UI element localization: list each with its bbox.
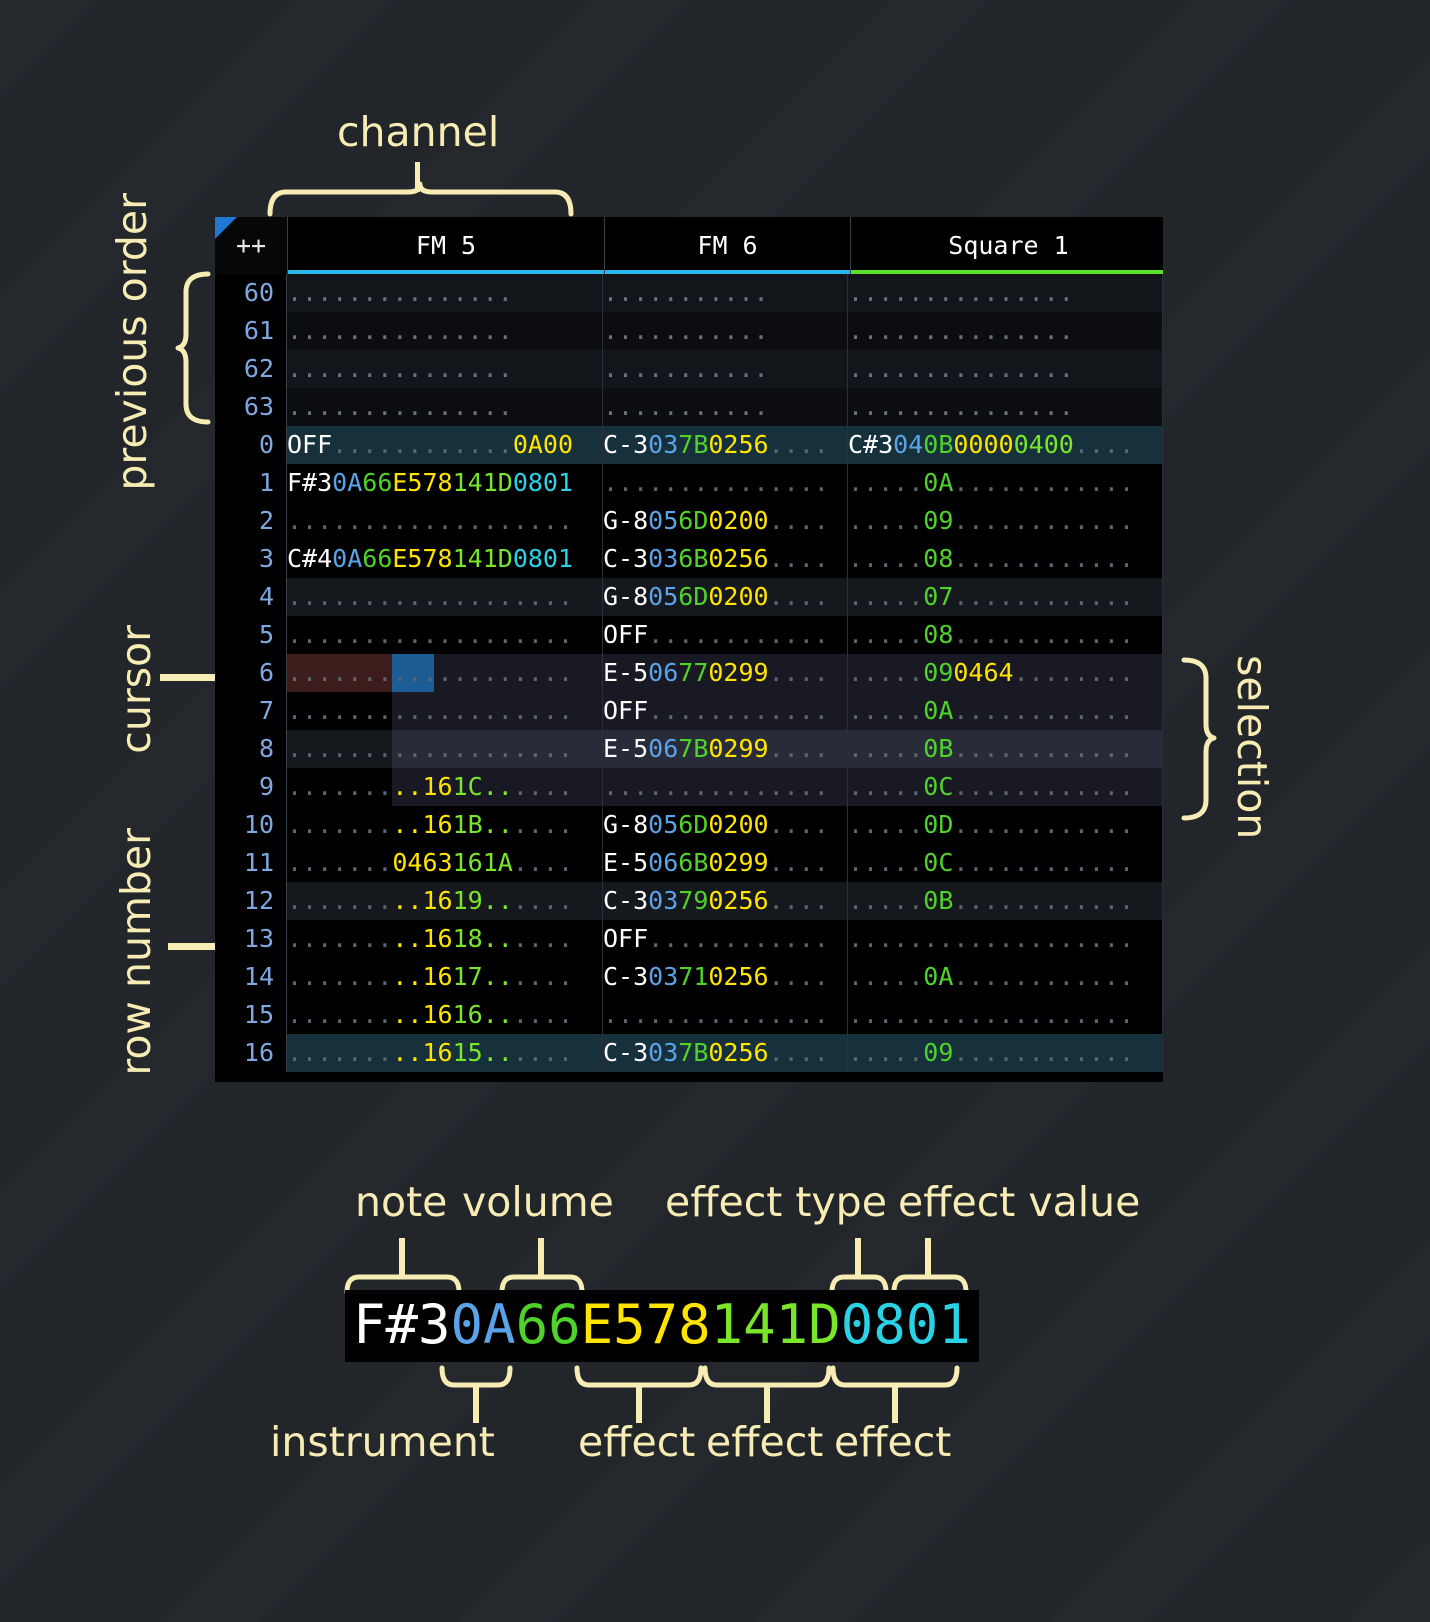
instrument: ..	[332, 620, 362, 649]
row-number: 12	[215, 882, 287, 920]
effect-dots: ....	[708, 468, 768, 497]
effect-dots: ....	[1074, 848, 1134, 877]
effect-dots: ....	[392, 658, 452, 687]
effect: 0299	[708, 848, 768, 877]
note: ...	[287, 962, 332, 991]
pattern-row[interactable]: 1F#30A66E578141D0801....................…	[215, 464, 1163, 502]
annotation-effect-type-stem	[855, 1238, 861, 1278]
effect-dots: ....	[769, 848, 829, 877]
effect: ..16	[392, 1000, 452, 1029]
volume: 66	[362, 468, 392, 497]
annotation-previous-order-brace	[180, 272, 210, 424]
rownumber-column-header[interactable]: ++	[215, 217, 288, 274]
pattern-cell-fm5[interactable]: .........1617......	[287, 958, 603, 996]
note: ...	[848, 734, 893, 763]
empty-cells: ...........	[603, 392, 769, 421]
row-number: 14	[215, 958, 287, 996]
pattern-cell-square1[interactable]: .....08............	[848, 540, 1163, 578]
pattern-row[interactable]: 3C#40A66E578141D0801C-3036B0256.........…	[215, 540, 1163, 578]
note: ...	[287, 810, 332, 839]
effect-dots: ....	[953, 924, 1013, 953]
channel-header-fm6[interactable]: FM 6	[605, 217, 851, 274]
effect-dots: ....	[1074, 620, 1134, 649]
note: G-8	[603, 506, 648, 535]
effect-dots: ....	[513, 924, 573, 953]
note: ...	[287, 582, 332, 611]
pattern-cell-fm5[interactable]: F#30A66E578141D0801	[287, 464, 603, 502]
effect-dots: ....	[769, 696, 829, 725]
effect-dots: ....	[453, 696, 513, 725]
note: ...	[848, 620, 893, 649]
note: E-5	[603, 848, 648, 877]
pattern-header-row: ++ FM 5 FM 6 Square 1	[215, 217, 1163, 274]
annotation-note-label: note	[355, 1178, 447, 1226]
pattern-cell-square1[interactable]: ...............	[848, 274, 1163, 312]
effect-dots: ....	[769, 468, 829, 497]
instrument: ..	[893, 1038, 923, 1067]
effect-dots: ....	[953, 620, 1013, 649]
pattern-row[interactable]: 16.........1615......C-3037B0256........…	[215, 1034, 1163, 1072]
note: F#3	[287, 468, 332, 497]
legend-effect3: 0801	[841, 1293, 971, 1356]
effect-dots: ....	[1074, 696, 1134, 725]
effect-dots: ....	[1074, 544, 1134, 573]
note: G-8	[603, 582, 648, 611]
pattern-row[interactable]: 6...................E-506770299.........…	[215, 654, 1163, 692]
effect: 141D	[453, 468, 513, 497]
instrument: ..	[893, 772, 923, 801]
row-number: 63	[215, 388, 287, 426]
pattern-row[interactable]: 10.........161B......G-8056D0200........…	[215, 806, 1163, 844]
pattern-row[interactable]: 8...................E-5067B0299.........…	[215, 730, 1163, 768]
effect-dots: ....	[769, 544, 829, 573]
effect-dots: ....	[1014, 696, 1074, 725]
effect-dots: ....	[1014, 468, 1074, 497]
pattern-row[interactable]: 12.........1619......C-303790256........…	[215, 882, 1163, 920]
effect-dots: ....	[953, 1038, 1013, 1067]
pattern-cell-square1[interactable]: ...............	[848, 312, 1163, 350]
effect-dots: ....	[1014, 582, 1074, 611]
legend-pattern-cell: F#30A66E578141D0801	[345, 1290, 979, 1362]
volume: ..	[362, 734, 392, 763]
volume: 0A	[923, 696, 953, 725]
note: ...	[603, 468, 648, 497]
pattern-editor[interactable]: ++ FM 5 FM 6 Square 1 60................…	[215, 217, 1163, 1082]
row-number: 16	[215, 1034, 287, 1072]
instrument: ..	[648, 696, 678, 725]
volume: 0B	[923, 886, 953, 915]
pattern-cell-square1[interactable]: .....07............	[848, 578, 1163, 616]
row-number: 15	[215, 996, 287, 1034]
volume: 0B	[923, 734, 953, 763]
note: C-3	[603, 886, 648, 915]
instrument: ..	[332, 962, 362, 991]
effect-dots: ....	[769, 658, 829, 687]
pattern-cell-fm5[interactable]: .......0463161A....	[287, 844, 603, 882]
volume: 09	[923, 506, 953, 535]
effect: 0464	[953, 658, 1013, 687]
pattern-row[interactable]: 9.........161C..........................…	[215, 768, 1163, 806]
volume: 08	[923, 620, 953, 649]
pattern-row[interactable]: 2...................G-8056D0200.........…	[215, 502, 1163, 540]
pattern-cell-fm5[interactable]: C#40A66E578141D0801	[287, 540, 603, 578]
instrument: ..	[648, 1000, 678, 1029]
row-number: 9	[215, 768, 287, 806]
note: ...	[287, 848, 332, 877]
pattern-cell-fm5[interactable]: .........1616......	[287, 996, 603, 1034]
note: ...	[848, 468, 893, 497]
instrument: ..	[893, 544, 923, 573]
instrument: ..	[893, 886, 923, 915]
pattern-cell-fm5[interactable]: ...............	[287, 274, 603, 312]
pattern-cell-square1[interactable]: .....08............	[848, 616, 1163, 654]
effect: 0A00	[513, 430, 573, 459]
effect-dots: ....	[953, 848, 1013, 877]
row-number: 8	[215, 730, 287, 768]
effect-dots: ....	[769, 886, 829, 915]
volume: ..	[362, 810, 392, 839]
pattern-row[interactable]: 4...................G-8056D0200.........…	[215, 578, 1163, 616]
note: OFF	[287, 430, 332, 459]
note: ...	[287, 772, 332, 801]
effect-dots: ....	[1014, 506, 1074, 535]
volume: 0C	[923, 848, 953, 877]
instrument: ..	[893, 658, 923, 687]
note: G-8	[603, 810, 648, 839]
instrument: 03	[648, 962, 678, 991]
pattern-cell-fm6[interactable]: ...............	[603, 464, 848, 502]
pattern-cell-square1[interactable]: .....0A............	[848, 464, 1163, 502]
volume: ..	[362, 772, 392, 801]
volume: 7B	[678, 430, 708, 459]
pattern-cell-fm6[interactable]: C-3037B0256....	[603, 1034, 848, 1072]
volume: ..	[362, 696, 392, 725]
instrument: ..	[332, 886, 362, 915]
effect-dots: ....	[1014, 772, 1074, 801]
effect-dots: ....	[769, 620, 829, 649]
volume: ..	[362, 962, 392, 991]
pattern-cell-fm6[interactable]: ...........	[603, 388, 848, 426]
channel-header-fm5[interactable]: FM 5	[288, 217, 605, 274]
effect-dots: ....	[392, 506, 452, 535]
effect: 141D	[453, 544, 513, 573]
pattern-row[interactable]: 13.........1618......OFF................…	[215, 920, 1163, 958]
pattern-cell-fm6[interactable]: ...............	[603, 996, 848, 1034]
instrument: 06	[648, 734, 678, 763]
pattern-cell-square1[interactable]: .....0C............	[848, 844, 1163, 882]
instrument: ..	[893, 848, 923, 877]
effect-dots: ....	[1074, 582, 1134, 611]
pattern-row[interactable]: 0OFF............0A00C-3037B0256....C#304…	[215, 426, 1163, 464]
empty-cells: ...............	[287, 316, 513, 345]
pattern-cell-square1[interactable]: .....0A............	[848, 958, 1163, 996]
effect-dots: ....	[513, 734, 573, 763]
pattern-cell-fm5[interactable]: ...................	[287, 616, 603, 654]
effect: 0000	[953, 430, 1013, 459]
instrument: ..	[893, 468, 923, 497]
pattern-cell-fm6[interactable]: OFF............	[603, 692, 848, 730]
volume: ..	[362, 1000, 392, 1029]
pattern-cell-square1[interactable]: .....090464........	[848, 654, 1163, 692]
volume: 79	[678, 886, 708, 915]
row-number: 7	[215, 692, 287, 730]
pattern-row-previous-order[interactable]: 62......................................…	[215, 350, 1163, 388]
effect: 0200	[708, 810, 768, 839]
effect-dots: ....	[1074, 1000, 1134, 1029]
row-number: 6	[215, 654, 287, 692]
row-number: 13	[215, 920, 287, 958]
pattern-cell-fm6[interactable]: E-506770299....	[603, 654, 848, 692]
pattern-cell-fm6[interactable]: OFF............	[603, 920, 848, 958]
row-number: 0	[215, 426, 287, 464]
effect-dots: ....	[453, 658, 513, 687]
pattern-cell-square1[interactable]: .....0D............	[848, 806, 1163, 844]
pattern-cell-fm6[interactable]: E-5067B0299....	[603, 730, 848, 768]
empty-cells: ...............	[287, 392, 513, 421]
pattern-cell-fm6[interactable]: C-303710256....	[603, 958, 848, 996]
note: ...	[848, 544, 893, 573]
channel-header-label: FM 6	[697, 227, 757, 265]
pattern-cell-fm6[interactable]: G-8056D0200....	[603, 578, 848, 616]
empty-cells: ...............	[287, 278, 513, 307]
pattern-cell-fm6[interactable]: OFF............	[603, 616, 848, 654]
effect-dots: ....	[1074, 734, 1134, 763]
pattern-row-previous-order[interactable]: 60......................................…	[215, 274, 1163, 312]
effect: ..16	[392, 962, 452, 991]
annotation-effect-c-label: effect	[834, 1418, 951, 1466]
note: ...	[848, 962, 893, 991]
pattern-cell-square1[interactable]: .....0C............	[848, 768, 1163, 806]
effect-dots: ....	[769, 734, 829, 763]
annotation-previous-order-label: previous order	[108, 193, 156, 491]
pattern-cell-fm5[interactable]: ...................	[287, 578, 603, 616]
pattern-cell-fm6[interactable]: C-3036B0256....	[603, 540, 848, 578]
effect-dots: ....	[708, 924, 768, 953]
legend-note: F#3	[353, 1293, 451, 1356]
instrument: ..	[332, 810, 362, 839]
pattern-cell-fm5[interactable]: .........1618......	[287, 920, 603, 958]
pattern-cell-fm5[interactable]: OFF............0A00	[287, 426, 603, 464]
effect-dots: ....	[453, 734, 513, 763]
pattern-row[interactable]: 5...................OFF.................…	[215, 616, 1163, 654]
instrument: 05	[648, 582, 678, 611]
instrument: 03	[648, 544, 678, 573]
effect: 0299	[708, 734, 768, 763]
pattern-cell-fm6[interactable]: ...........	[603, 312, 848, 350]
note: ...	[287, 696, 332, 725]
pattern-cell-fm6[interactable]: C-303790256....	[603, 882, 848, 920]
pattern-cell-fm5[interactable]: ...................	[287, 692, 603, 730]
pattern-cell-square1[interactable]: ...............	[848, 350, 1163, 388]
pattern-row[interactable]: 7...................OFF.................…	[215, 692, 1163, 730]
note: ...	[848, 848, 893, 877]
instrument: ..	[332, 734, 362, 763]
pattern-cell-fm5[interactable]: ...............	[287, 388, 603, 426]
volume: 0D	[923, 810, 953, 839]
volume: 77	[678, 658, 708, 687]
effect: 0256	[708, 886, 768, 915]
pattern-cell-fm5[interactable]: .........1615......	[287, 1034, 603, 1072]
row-number: 3	[215, 540, 287, 578]
effect-dots: ....	[513, 620, 573, 649]
instrument: ..	[893, 734, 923, 763]
volume: ..	[923, 1000, 953, 1029]
effect-dots: ....	[392, 582, 452, 611]
note: ...	[848, 582, 893, 611]
annotation-selection-label: selection	[1228, 655, 1276, 839]
channel-header-label: Square 1	[948, 227, 1068, 265]
effect-dots: ....	[513, 886, 573, 915]
effect: 16..	[453, 1000, 513, 1029]
effect-dots: ....	[708, 1000, 768, 1029]
pattern-row[interactable]: 15.........1616.........................…	[215, 996, 1163, 1034]
effect-dots: ....	[1014, 848, 1074, 877]
effect: 0256	[708, 544, 768, 573]
channel-header-square1[interactable]: Square 1	[851, 217, 1163, 274]
effect-dots: ....	[1074, 468, 1134, 497]
note: OFF	[603, 620, 648, 649]
effect-dots: ....	[392, 734, 452, 763]
pattern-cell-fm5[interactable]: .........161C......	[287, 768, 603, 806]
effect-dots: ....	[953, 1000, 1013, 1029]
effect: E578	[392, 468, 452, 497]
effect-dots: ....	[453, 582, 513, 611]
pattern-cell-fm6[interactable]: ...............	[603, 768, 848, 806]
effect: 161A	[453, 848, 513, 877]
volume: ..	[362, 886, 392, 915]
pattern-cell-fm5[interactable]: ...................	[287, 730, 603, 768]
note: ...	[848, 886, 893, 915]
pattern-cell-fm6[interactable]: C-3037B0256....	[603, 426, 848, 464]
volume: 6B	[678, 544, 708, 573]
pattern-row-previous-order[interactable]: 63......................................…	[215, 388, 1163, 426]
effect-dots: ....	[769, 430, 829, 459]
empty-cells: ...............	[848, 278, 1074, 307]
instrument: ..	[332, 848, 362, 877]
pattern-cell-fm6[interactable]: ...........	[603, 274, 848, 312]
pattern-rows[interactable]: 60......................................…	[215, 274, 1163, 1072]
effect: ..16	[392, 1038, 452, 1067]
effect-dots: ....	[953, 506, 1013, 535]
pattern-cell-fm5[interactable]: ...............	[287, 350, 603, 388]
volume: ..	[362, 582, 392, 611]
instrument: ..	[893, 924, 923, 953]
pattern-cell-fm5[interactable]: ...............	[287, 312, 603, 350]
pattern-row[interactable]: 11.......0463161A....E-5066B0299........…	[215, 844, 1163, 882]
legend-volume: 66	[516, 1293, 581, 1356]
pattern-cell-square1[interactable]: .....09............	[848, 502, 1163, 540]
effect: 15..	[453, 1038, 513, 1067]
volume: 6D	[678, 506, 708, 535]
instrument: ..	[332, 696, 362, 725]
effect: ..16	[392, 810, 452, 839]
effect-dots: ....	[953, 886, 1013, 915]
effect: 17..	[453, 962, 513, 991]
annotation-effect-b-label: effect	[706, 1418, 823, 1466]
effect: 1B..	[453, 810, 513, 839]
effect-dots: ....	[769, 772, 829, 801]
effect-dots: ....	[953, 582, 1013, 611]
volume: 71	[678, 962, 708, 991]
effect: 0801	[513, 544, 573, 573]
pattern-cell-square1[interactable]: C#3040B00000400....	[848, 426, 1163, 464]
effect-dots: ....	[769, 810, 829, 839]
instrument: 03	[648, 430, 678, 459]
note: ...	[603, 1000, 648, 1029]
empty-cells: ...........	[603, 354, 769, 383]
effect-dots: ....	[513, 810, 573, 839]
pattern-row-previous-order[interactable]: 61......................................…	[215, 312, 1163, 350]
instrument: 06	[648, 658, 678, 687]
effect-dots: ....	[453, 506, 513, 535]
note: E-5	[603, 734, 648, 763]
effect-dots: ....	[769, 582, 829, 611]
pattern-cell-fm6[interactable]: G-8056D0200....	[603, 806, 848, 844]
effect: 0400	[1014, 430, 1074, 459]
instrument: 0A	[332, 544, 362, 573]
row-number: 61	[215, 312, 287, 350]
effect: 0256	[708, 962, 768, 991]
effect: 0200	[708, 506, 768, 535]
pattern-cell-square1[interactable]: ...................	[848, 920, 1163, 958]
pattern-cell-fm5[interactable]: .........161B......	[287, 806, 603, 844]
pattern-cell-fm6[interactable]: E-5066B0299....	[603, 844, 848, 882]
effect: ..16	[392, 772, 452, 801]
pattern-cell-square1[interactable]: .....0A............	[848, 692, 1163, 730]
instrument: ..	[893, 696, 923, 725]
effect-dots: ....	[1074, 886, 1134, 915]
annotation-effect-a-label: effect	[578, 1418, 695, 1466]
effect-dots: ....	[392, 696, 452, 725]
annotation-cursor-label: cursor	[112, 625, 160, 754]
effect: 0801	[513, 468, 573, 497]
pattern-cell-fm5[interactable]: .........1619......	[287, 882, 603, 920]
effect-dots: ....	[1014, 620, 1074, 649]
pattern-cell-fm5[interactable]: ...................	[287, 654, 603, 692]
volume: ..	[362, 430, 392, 459]
instrument: ..	[648, 772, 678, 801]
pattern-cell-square1[interactable]: ...................	[848, 996, 1163, 1034]
annotation-effect-value-stem	[925, 1238, 931, 1278]
effect-dots: ....	[769, 506, 829, 535]
row-number: 62	[215, 350, 287, 388]
legend-effect1: E578	[581, 1293, 711, 1356]
pattern-cell-square1[interactable]: ...............	[848, 388, 1163, 426]
pattern-cell-square1[interactable]: .....0B............	[848, 882, 1163, 920]
note: ...	[287, 658, 332, 687]
pattern-cell-fm6[interactable]: ...........	[603, 350, 848, 388]
note: C-3	[603, 962, 648, 991]
volume: 6D	[678, 810, 708, 839]
effect-dots: ....	[392, 620, 452, 649]
empty-cells: ...............	[848, 392, 1074, 421]
effect: 1C..	[453, 772, 513, 801]
effect: 0463	[392, 848, 452, 877]
effect-dots: ....	[708, 620, 768, 649]
instrument: ..	[332, 1000, 362, 1029]
effect: 0256	[708, 1038, 768, 1067]
pattern-cell-fm5[interactable]: ...................	[287, 502, 603, 540]
effect-dots: ....	[513, 772, 573, 801]
pattern-cell-fm6[interactable]: G-8056D0200....	[603, 502, 848, 540]
empty-cells: ...............	[848, 354, 1074, 383]
pattern-cell-square1[interactable]: .....0B............	[848, 730, 1163, 768]
note: OFF	[603, 924, 648, 953]
pattern-row[interactable]: 14.........1617......C-303710256........…	[215, 958, 1163, 996]
effect-dots: ....	[453, 620, 513, 649]
pattern-cell-square1[interactable]: .....09............	[848, 1034, 1163, 1072]
effect-dots: ....	[1074, 772, 1134, 801]
